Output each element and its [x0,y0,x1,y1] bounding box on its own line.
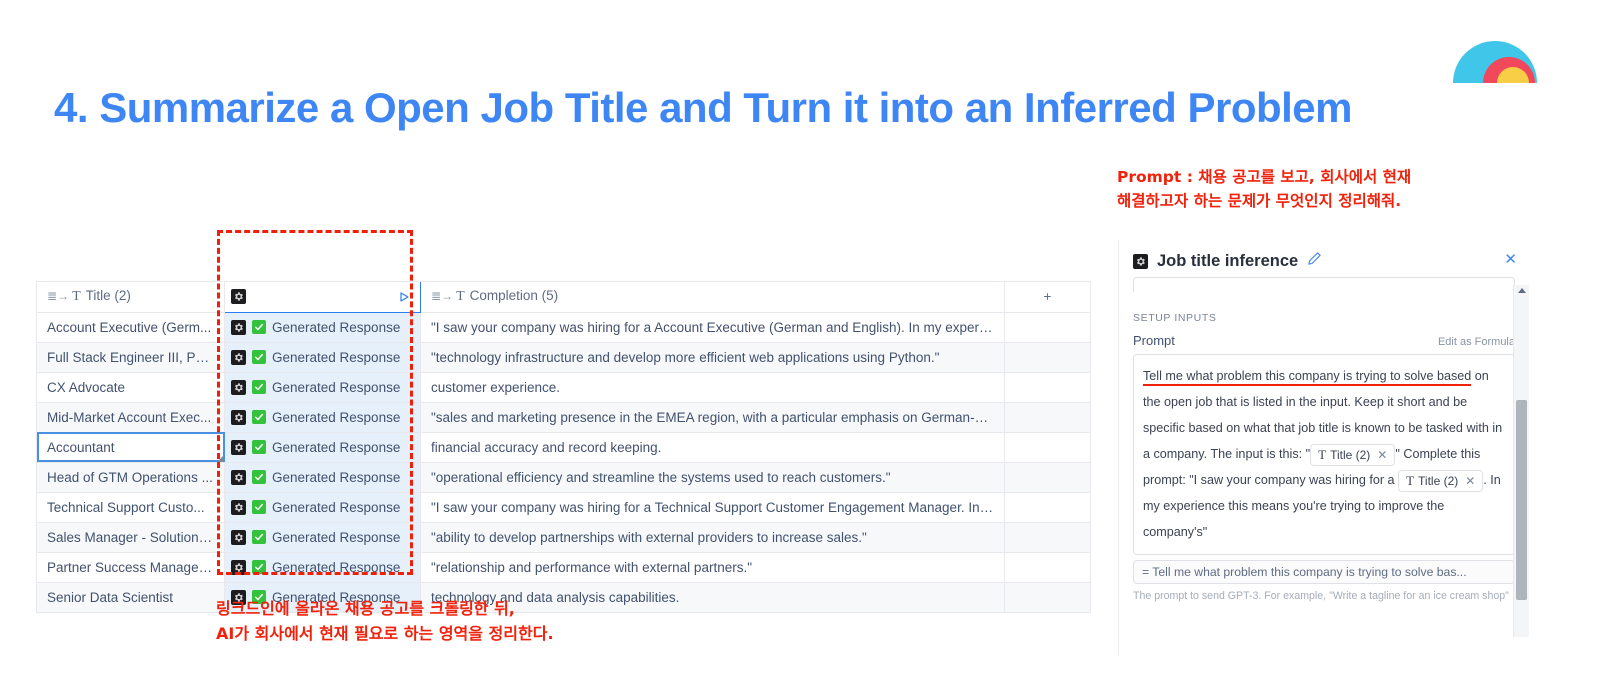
table-row[interactable]: Technical Support Custo...Generated Resp… [37,492,1091,522]
check-icon [252,380,266,394]
cell-title-text: Partner Success Manager ... [47,560,218,575]
cell-job-inference[interactable]: Generated Response [225,462,421,492]
check-icon [252,350,266,364]
text-type-icon: T [72,289,81,304]
remove-chip-icon[interactable]: ✕ [1465,474,1475,488]
column-header-title-label: Title (2) [86,288,131,303]
cell-title[interactable]: Accountant [37,432,225,462]
cell-title[interactable]: CX Advocate [37,372,225,402]
prompt-annotation-line-1: Prompt : 채용 공고를 보고, 회사에서 현재 [1117,165,1517,189]
prompt-label: Prompt [1133,333,1175,348]
caption-line-1: 링크드인에 올라온 채용 공고를 크롤링한 뒤, [216,596,836,621]
grid-top-strip [37,252,1091,281]
cell-completion-text: "operational efficiency and streamline t… [431,470,891,485]
check-icon [252,560,266,574]
ghost-cell-job [225,252,421,281]
ghost-cell-completion [421,252,1005,281]
check-icon [252,500,266,514]
field-chip-title-1[interactable]: TTitle (2)✕ [1310,444,1395,466]
gear-icon [231,470,246,485]
scroll-up-arrow-icon[interactable] [1518,288,1526,293]
cell-add[interactable] [1005,492,1091,522]
panel-scrollbar[interactable] [1513,285,1529,637]
gear-icon [231,530,246,545]
gear-icon [231,560,246,575]
table-row[interactable]: Sales Manager - Solutions...Generated Re… [37,522,1091,552]
gear-icon [231,410,246,425]
column-header-job-title-inference[interactable]: Job title inference [225,281,421,312]
cell-job-inference[interactable]: Generated Response [225,402,421,432]
cell-title[interactable]: Full Stack Engineer III, Pyt... [37,342,225,372]
cell-job-status-label: Generated Response [272,350,400,365]
cell-completion[interactable]: financial accuracy and record keeping. [421,432,1005,462]
prompt-line-3: specific based on what that job title is… [1143,421,1463,435]
run-icon[interactable] [395,288,414,305]
remove-chip-icon[interactable]: ✕ [1377,448,1387,462]
cell-job-inference[interactable]: Generated Response [225,552,421,582]
cell-job-inference[interactable]: Generated Response [225,372,421,402]
panel-name-field[interactable] [1133,277,1515,292]
gear-icon [231,320,246,335]
cell-title-text: Technical Support Custo... [47,500,205,515]
setup-inputs-label: SETUP INPUTS [1133,312,1529,324]
cell-add[interactable] [1005,582,1091,612]
prompt-input[interactable]: Tell me what problem this company is try… [1133,354,1515,555]
cell-title[interactable]: Sales Manager - Solutions... [37,522,225,552]
scrollbar-thumb[interactable] [1516,400,1527,600]
column-header-completion-label: Completion (5) [470,288,559,303]
cell-title[interactable]: Senior Data Scientist [37,582,225,612]
cell-title[interactable]: Account Executive (Germ... [37,312,225,342]
column-header-job-label: Job title inference [252,289,389,304]
sort-icon: ≣→ [431,289,453,303]
cell-job-status-label: Generated Response [272,560,400,575]
cell-job-status-label: Generated Response [272,500,400,515]
text-type-icon: T [456,289,465,304]
check-icon [252,410,266,424]
cell-completion[interactable]: customer experience. [421,372,1005,402]
cell-add[interactable] [1005,552,1091,582]
table-row[interactable]: CX AdvocateGenerated Responsecustomer ex… [37,372,1091,402]
cell-completion-text: "technology infrastructure and develop m… [431,350,939,365]
cell-job-status-label: Generated Response [272,440,400,455]
check-icon [252,530,266,544]
gear-icon [231,500,246,515]
text-type-icon: T [1406,473,1414,488]
cell-completion-text: "ability to develop partnerships with ex… [431,530,867,545]
cell-completion-text: financial accuracy and record keeping. [431,440,661,455]
cell-title-text: Senior Data Scientist [47,590,173,605]
caption-line-2: AI가 회사에서 현재 필요로 하는 영역을 정리한다. [216,621,836,646]
cell-job-status-label: Generated Response [272,470,400,485]
grid-header-row: ≣→TTitle (2) Job title inference [37,281,1091,312]
cell-title-text: Full Stack Engineer III, Pyt... [47,350,217,365]
cell-add[interactable] [1005,342,1091,372]
cell-completion[interactable]: "sales and marketing presence in the EME… [421,402,1005,432]
cell-completion-text: "sales and marketing presence in the EME… [431,410,1005,425]
check-icon [252,440,266,454]
prompt-field-header: Prompt Edit as Formula [1133,333,1515,348]
panel-title: Job title inference [1157,252,1298,271]
check-icon [252,320,266,334]
check-icon [252,470,266,484]
cell-title-text: Accountant [47,440,115,455]
field-chip-title-1-label: Title (2) [1330,448,1370,462]
cell-completion-text: "I saw your company was hiring for a Tec… [431,500,1005,515]
cell-title[interactable]: Head of GTM Operations ... [37,462,225,492]
cell-job-inference[interactable]: Generated Response [225,342,421,372]
prompt-line-5: " [1395,447,1399,461]
cell-add[interactable] [1005,402,1091,432]
cell-completion-text: customer experience. [431,380,560,395]
cell-title[interactable]: Partner Success Manager ... [37,552,225,582]
gear-icon [1133,254,1148,269]
gear-icon [231,289,246,304]
cell-job-inference[interactable]: Generated Response [225,432,421,462]
cell-completion[interactable]: "ability to develop partnerships with ex… [421,522,1005,552]
add-column-button[interactable]: + [1005,281,1091,312]
text-type-icon: T [1318,447,1326,462]
pencil-icon[interactable] [1307,251,1322,271]
cell-title[interactable]: Technical Support Custo... [37,492,225,522]
table-row[interactable]: Full Stack Engineer III, Pyt...Generated… [37,342,1091,372]
cell-job-status-label: Generated Response [272,320,400,335]
cell-completion[interactable]: "relationship and performance with exter… [421,552,1005,582]
column-header-completion[interactable]: ≣→TCompletion (5) [421,281,1005,312]
gear-icon [231,350,246,365]
ghost-cell-title [37,252,225,281]
edit-as-formula-link[interactable]: Edit as Formula [1438,336,1515,348]
cell-completion[interactable]: "technology infrastructure and develop m… [421,342,1005,372]
cell-add[interactable] [1005,372,1091,402]
cell-completion[interactable]: "I saw your company was hiring for a Tec… [421,492,1005,522]
cell-title-text: Account Executive (Germ... [47,320,211,335]
cell-add[interactable] [1005,462,1091,492]
cell-job-inference[interactable]: Generated Response [225,522,421,552]
cell-job-status-label: Generated Response [272,380,400,395]
cell-add[interactable] [1005,312,1091,342]
table-row[interactable]: Head of GTM Operations ...Generated Resp… [37,462,1091,492]
close-icon[interactable]: ✕ [1504,252,1517,267]
grid-body: Account Executive (Germ...Generated Resp… [37,312,1091,612]
cell-completion-text: "relationship and performance with exter… [431,560,752,575]
cell-job-status-label: Generated Response [272,530,400,545]
prompt-annotation-line-2: 해결하고자 하는 문제가 무엇인지 정리해줘. [1117,189,1517,213]
cell-add[interactable] [1005,432,1091,462]
cell-title-text: Sales Manager - Solutions... [47,530,217,545]
ghost-cell-add [1005,252,1091,281]
formula-preview[interactable]: = Tell me what problem this company is t… [1133,560,1515,584]
table-row[interactable]: AccountantGenerated Responsefinancial ac… [37,432,1091,462]
sort-icon: ≣→ [47,289,69,303]
table-row[interactable]: Partner Success Manager ...Generated Res… [37,552,1091,582]
cell-job-inference[interactable]: Generated Response [225,312,421,342]
field-chip-title-2[interactable]: TTitle (2)✕ [1398,470,1483,492]
cell-completion-text: "I saw your company was hiring for a Acc… [431,320,1005,335]
data-grid[interactable]: ≣→TTitle (2) Job title inference [36,252,1090,574]
prompt-helper-text: The prompt to send GPT-3. For example, "… [1133,589,1515,603]
table-row[interactable]: Mid-Market Account Exec...Generated Resp… [37,402,1091,432]
cell-job-inference[interactable]: Generated Response [225,492,421,522]
table-row[interactable]: Account Executive (Germ...Generated Resp… [37,312,1091,342]
gear-icon [231,380,246,395]
prompt-annotation: Prompt : 채용 공고를 보고, 회사에서 현재 해결하고자 하는 문제가… [1117,165,1517,213]
cell-title-text: CX Advocate [47,380,125,395]
rainbow-arch-logo [1449,23,1541,85]
cell-add[interactable] [1005,522,1091,552]
grid-table: ≣→TTitle (2) Job title inference [36,252,1091,613]
page-title: 4. Summarize a Open Job Title and Turn i… [54,84,1534,132]
column-header-title[interactable]: ≣→TTitle (2) [37,281,225,312]
gear-icon [231,440,246,455]
cell-title[interactable]: Mid-Market Account Exec... [37,402,225,432]
cell-job-status-label: Generated Response [272,410,400,425]
caption-annotation: 링크드인에 올라온 채용 공고를 크롤링한 뒤, AI가 회사에서 현재 필요로… [216,596,836,646]
cell-completion[interactable]: "I saw your company was hiring for a Acc… [421,312,1005,342]
config-panel: Job title inference ✕ SETUP INPUTS Promp… [1118,240,1529,655]
cell-title-text: Mid-Market Account Exec... [47,410,211,425]
cell-completion[interactable]: "operational efficiency and streamline t… [421,462,1005,492]
panel-header: Job title inference [1119,240,1529,271]
field-chip-title-2-label: Title (2) [1418,474,1458,488]
cell-title-text: Head of GTM Operations ... [47,470,213,485]
prompt-line-1: Tell me what problem this company is try… [1143,369,1471,386]
